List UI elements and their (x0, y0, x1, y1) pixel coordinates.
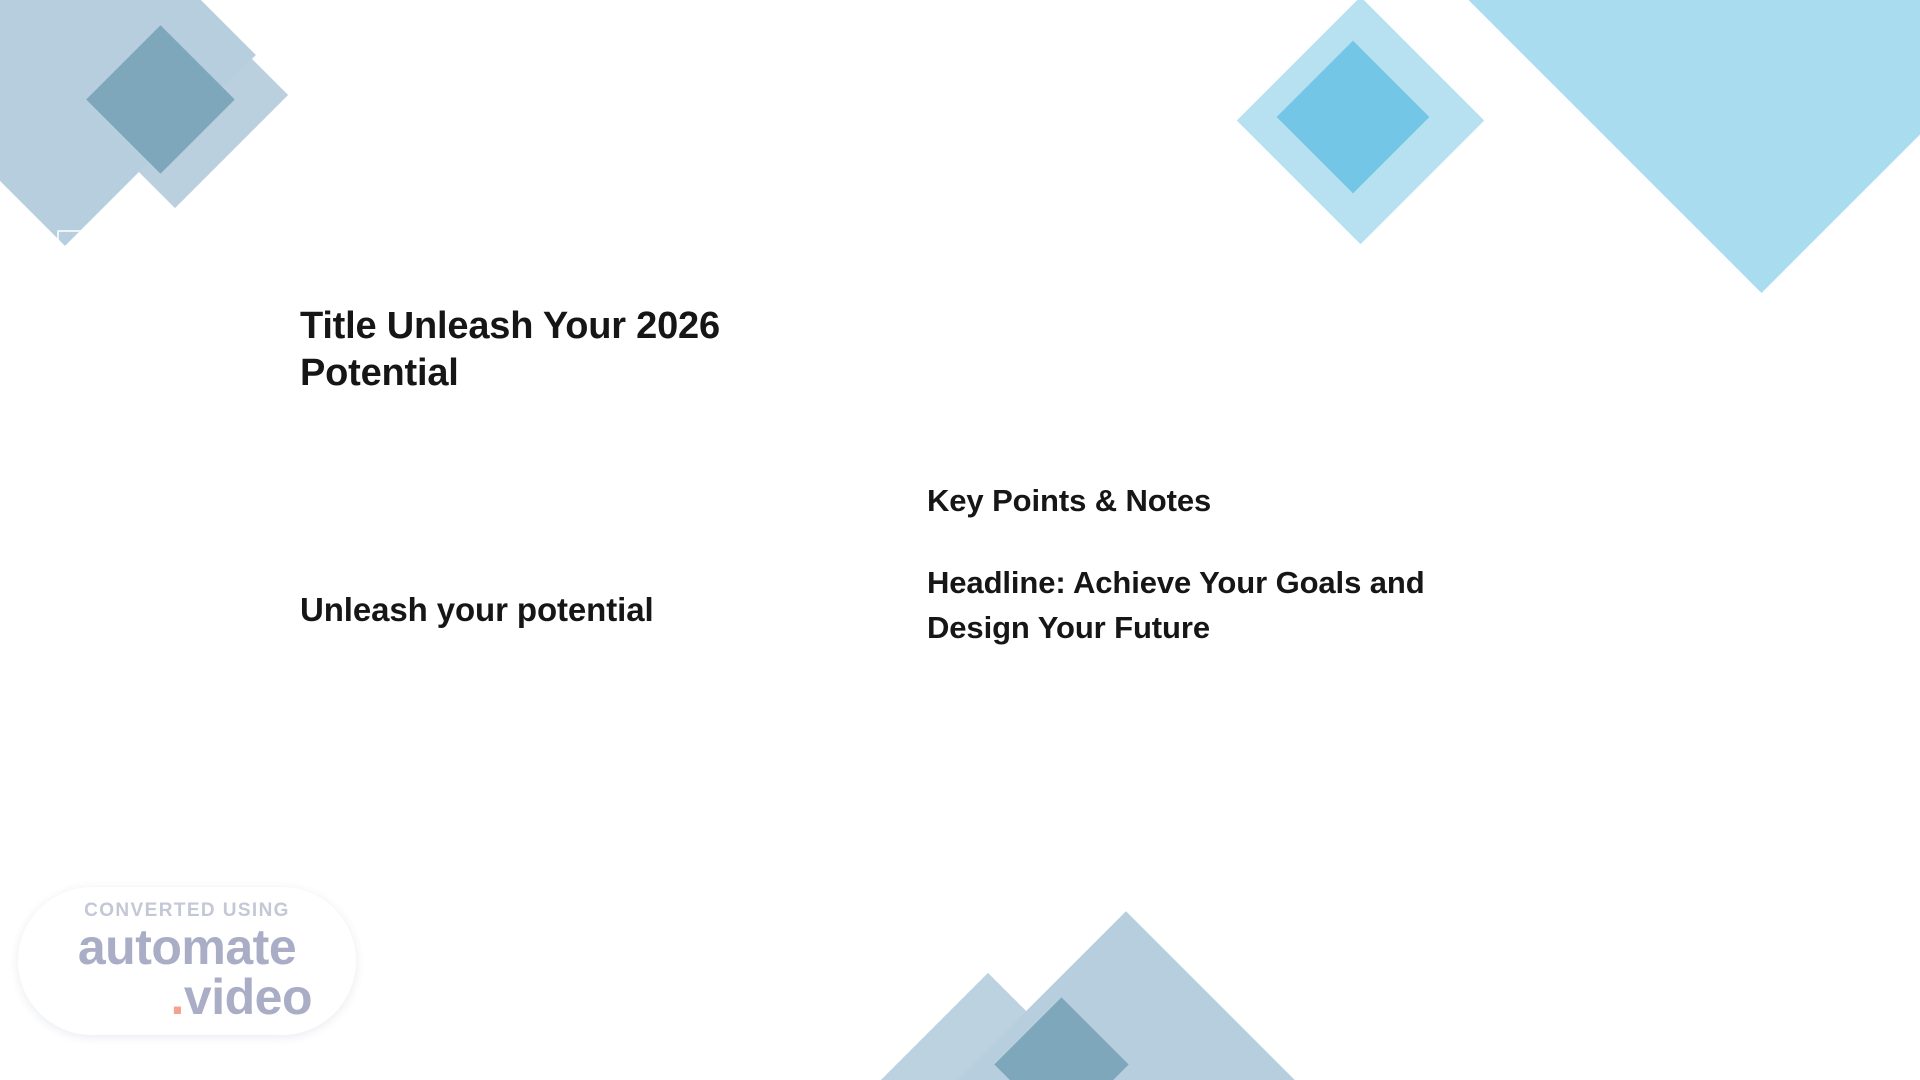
watermark-badge: CONVERTED USING automate .video (18, 887, 356, 1035)
slide-title: Title Unleash Your 2026 Potential (300, 303, 820, 396)
watermark-domain: .video (171, 972, 313, 1022)
watermark-domain-label: video (184, 972, 312, 1022)
slide-subhead: Unleash your potential (300, 589, 820, 630)
key-points-heading: Key Points & Notes (927, 482, 1567, 521)
key-points-body: Headline: Achieve Your Goals and Design … (927, 561, 1527, 651)
watermark-brand: automate (78, 923, 296, 972)
watermark-dot: . (171, 972, 184, 1022)
slide-canvas: Title Unleash Your 2026 Potential Unleas… (0, 0, 1920, 1080)
